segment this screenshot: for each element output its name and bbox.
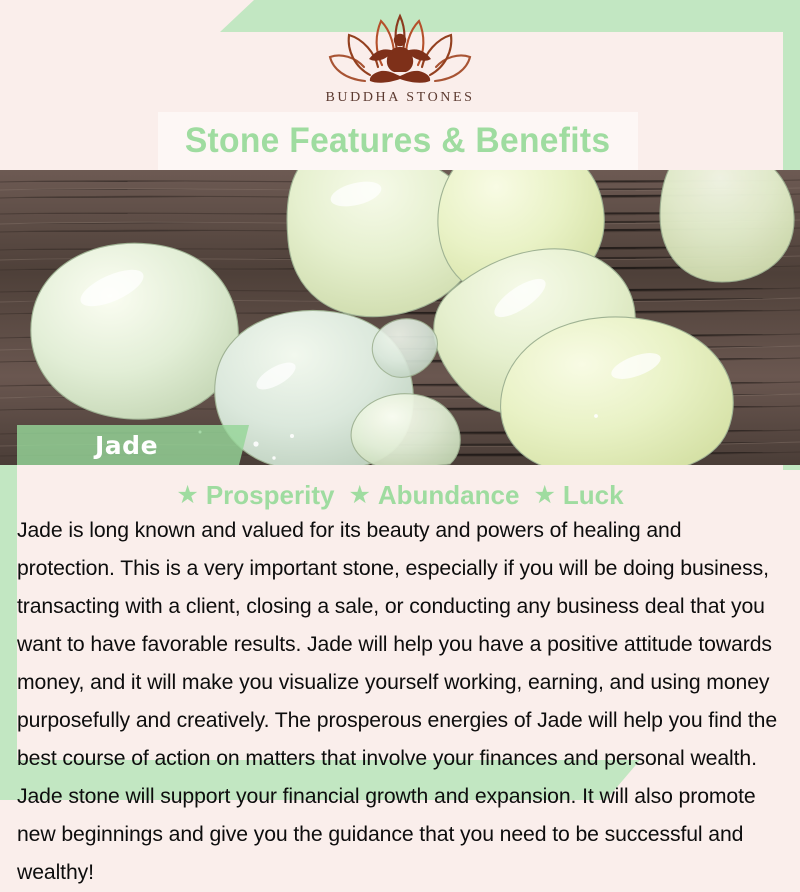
keyword-list: ★ Prosperity ★ Abundance ★ Luck bbox=[0, 478, 800, 512]
keyword-label: Abundance bbox=[378, 480, 520, 511]
title-banner: Stone Features & Benefits bbox=[158, 112, 638, 170]
star-icon: ★ bbox=[533, 483, 555, 508]
keyword-item-prosperity: ★ Prosperity bbox=[176, 480, 334, 511]
brand-header: BUDDHA STONES bbox=[0, 0, 800, 118]
brand-name: BUDDHA STONES bbox=[325, 90, 474, 106]
keyword-item-abundance: ★ Abundance bbox=[348, 480, 519, 511]
stone-photo bbox=[0, 170, 800, 465]
star-icon: ★ bbox=[176, 483, 198, 508]
keyword-label: Luck bbox=[563, 480, 624, 511]
star-icon: ★ bbox=[348, 483, 370, 508]
keyword-label: Prosperity bbox=[206, 480, 335, 511]
keyword-item-luck: ★ Luck bbox=[533, 480, 623, 511]
logo: BUDDHA STONES bbox=[325, 13, 475, 106]
stone-description: Jade is long known and valued for its be… bbox=[17, 512, 783, 892]
lotus-meditation-figure-icon bbox=[325, 13, 475, 87]
stone-name-band: Jade bbox=[17, 425, 249, 465]
stone-name: Jade bbox=[95, 431, 158, 460]
page-title: Stone Features & Benefits bbox=[185, 121, 610, 161]
